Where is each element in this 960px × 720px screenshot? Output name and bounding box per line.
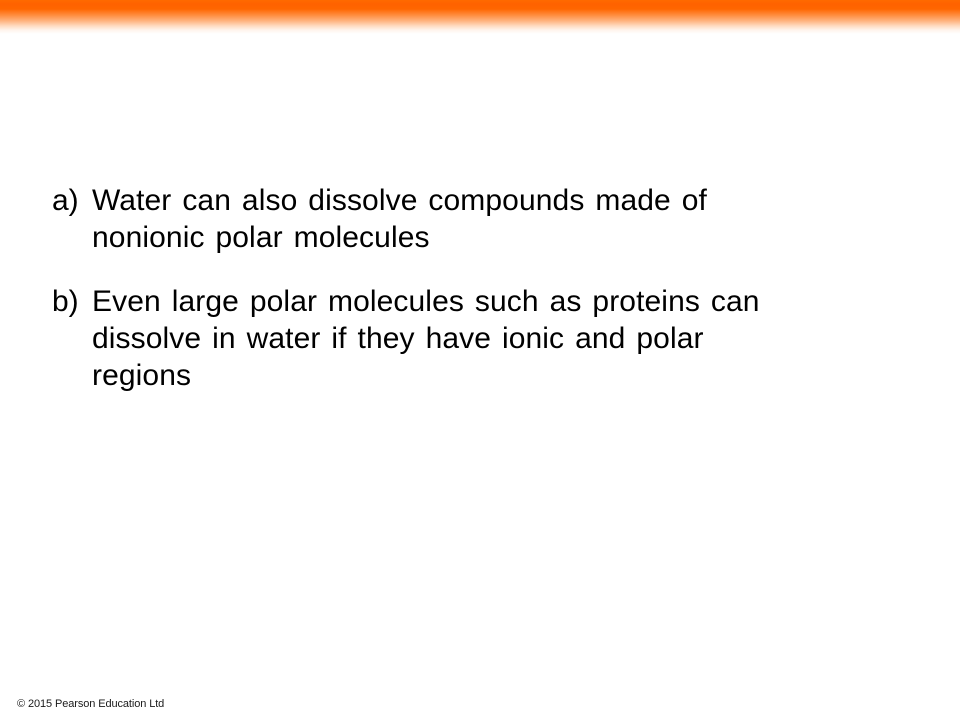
slide-canvas: a) Water can also dissolve compounds mad… xyxy=(0,0,960,720)
list-marker-b: b) xyxy=(52,283,92,320)
list-item: a) Water can also dissolve compounds mad… xyxy=(52,182,812,256)
copyright-notice: © 2015 Pearson Education Ltd xyxy=(17,697,164,711)
orange-gradient-band xyxy=(0,0,960,34)
list-item: b) Even large polar molecules such as pr… xyxy=(52,283,812,394)
slide-body: a) Water can also dissolve compounds mad… xyxy=(52,182,812,394)
list-text-a: Water can also dissolve compounds made o… xyxy=(92,182,812,256)
list-marker-a: a) xyxy=(52,182,92,219)
list-text-b: Even large polar molecules such as prote… xyxy=(92,283,812,394)
